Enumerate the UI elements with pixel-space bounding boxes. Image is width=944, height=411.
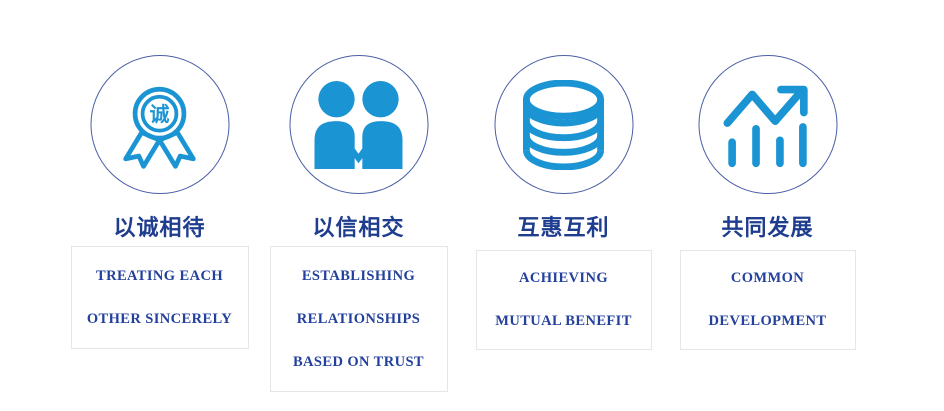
feature-card-4[interactable]: 共同发展 COMMON DEVELOPMENT	[665, 0, 870, 411]
icon-circle-3	[494, 55, 633, 194]
coin-stack-icon	[523, 80, 605, 170]
feature-textbox-4: COMMON DEVELOPMENT	[680, 250, 856, 350]
features-section: 诚 以诚相待 TREATING EACH OTHER SINCERELY 以信相…	[0, 0, 944, 411]
icon-circle-2	[289, 55, 428, 194]
medal-ribbon-icon: 诚	[113, 78, 207, 172]
icon-circle-1: 诚	[90, 55, 229, 194]
medal-badge-char: 诚	[150, 103, 170, 126]
feature-heading-4: 共同发展	[665, 215, 870, 243]
feature-heading-1: 以诚相待	[57, 215, 262, 243]
feature-text-line: RELATIONSHIPS	[297, 298, 420, 341]
feature-textbox-3: ACHIEVING MUTUAL BENEFIT	[476, 250, 652, 350]
feature-heading-2: 以信相交	[256, 215, 461, 243]
feature-card-3[interactable]: 互惠互利 ACHIEVING MUTUAL BENEFIT	[461, 0, 666, 411]
icon-circle-4	[698, 55, 837, 194]
feature-text-line: COMMON	[731, 257, 804, 300]
growth-chart-arrow-icon	[724, 81, 812, 169]
feature-text-line: DEVELOPMENT	[709, 300, 827, 343]
feature-text-line: ESTABLISHING	[302, 255, 415, 298]
feature-text-line: OTHER SINCERELY	[87, 298, 232, 341]
feature-card-1[interactable]: 诚 以诚相待 TREATING EACH OTHER SINCERELY	[57, 0, 262, 411]
handshake-people-icon	[311, 81, 407, 169]
feature-text-line: TREATING EACH	[96, 255, 223, 298]
feature-text-line: MUTUAL BENEFIT	[495, 300, 632, 343]
feature-card-2[interactable]: 以信相交 ESTABLISHING RELATIONSHIPS BASED ON…	[256, 0, 461, 411]
feature-textbox-2: ESTABLISHING RELATIONSHIPS BASED ON TRUS…	[270, 246, 448, 392]
feature-textbox-1: TREATING EACH OTHER SINCERELY	[71, 246, 249, 349]
feature-text-line: ACHIEVING	[519, 257, 608, 300]
feature-text-line: BASED ON TRUST	[293, 341, 424, 384]
feature-heading-3: 互惠互利	[461, 215, 666, 243]
